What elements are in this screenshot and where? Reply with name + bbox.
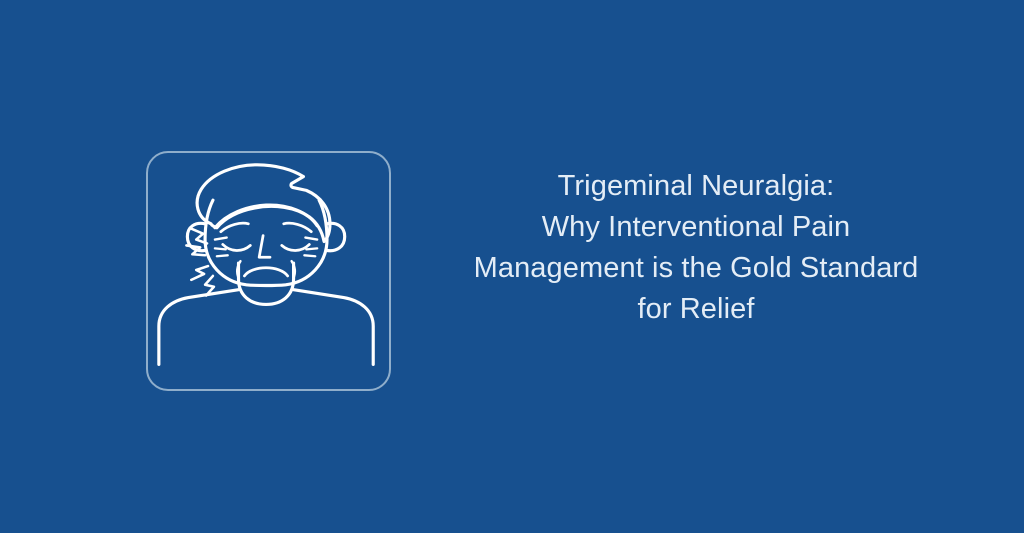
- page-title: Trigeminal Neuralgia: Why Interventional…: [432, 166, 960, 330]
- hair-fringe-path: [215, 205, 317, 228]
- title-line-1: Trigeminal Neuralgia:: [432, 166, 960, 207]
- right-eye-path: [282, 244, 310, 250]
- illustration-frame: [146, 151, 391, 391]
- banner-root: Trigeminal Neuralgia: Why Interventional…: [0, 0, 1024, 533]
- title-line-2: Why Interventional Pain: [432, 207, 960, 248]
- left-eyebrow-path: [221, 223, 249, 231]
- shoulders-path: [159, 290, 373, 365]
- nose-path: [259, 236, 270, 258]
- title-line-3: Management is the Gold Standard: [432, 248, 960, 289]
- facial-pain-person-icon: [148, 153, 389, 389]
- right-eyebrow-path: [284, 223, 312, 231]
- left-eye-path: [223, 244, 251, 250]
- frowning-mouth-path: [244, 268, 287, 276]
- face-outline-path: [205, 200, 327, 285]
- title-line-4: for Relief: [432, 289, 960, 330]
